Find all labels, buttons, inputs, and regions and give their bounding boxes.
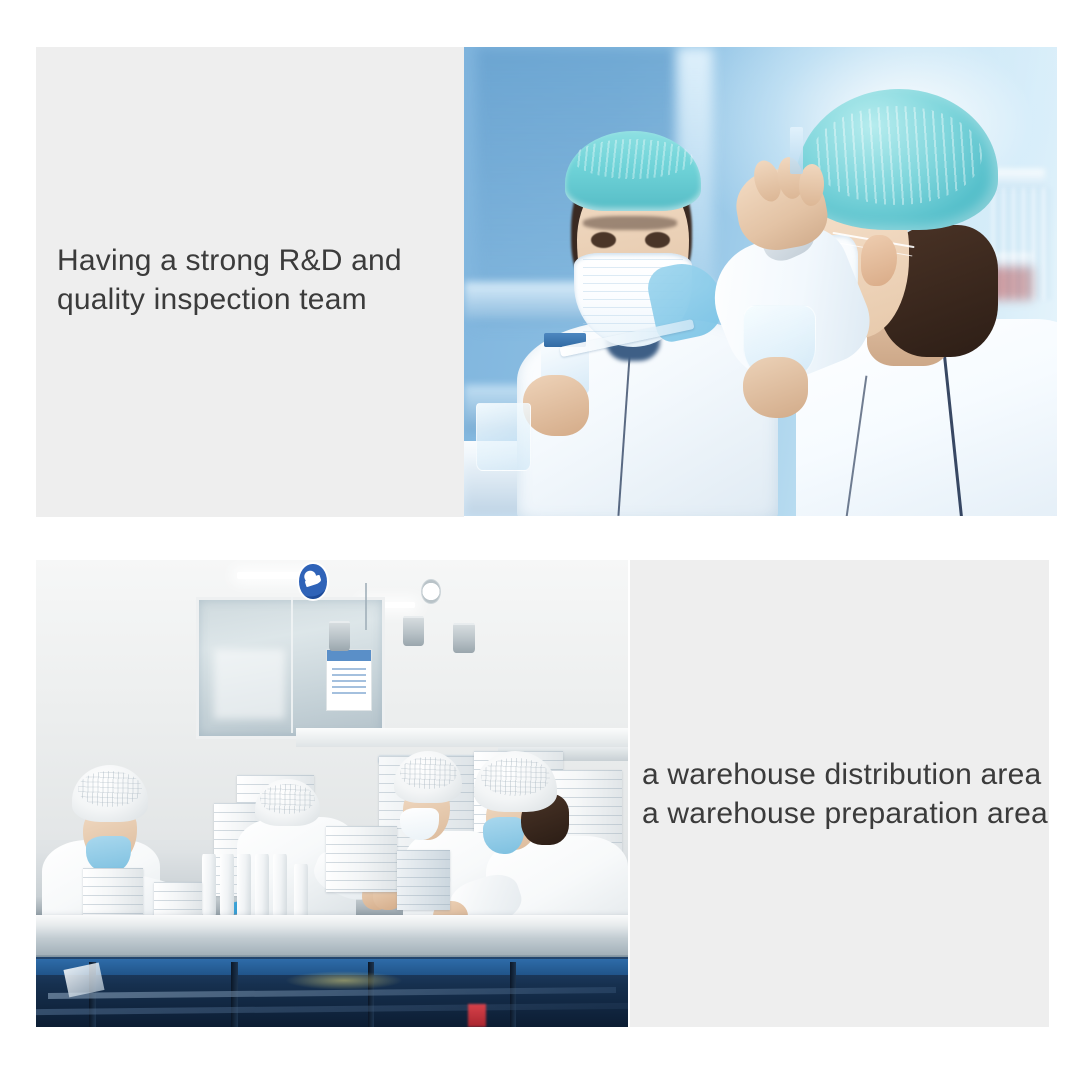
hand-holding-bottle: [523, 375, 588, 436]
product-bottle: [202, 854, 216, 915]
stainless-steel-table: [36, 915, 628, 957]
wall-clock-icon: [421, 579, 441, 604]
carton-stack: [326, 826, 397, 891]
product-bottle: [273, 854, 287, 915]
carton-stack: [397, 850, 450, 911]
red-floor-marking: [468, 1004, 486, 1027]
steel-container: [403, 616, 424, 646]
warehouse-worker-mask: [400, 808, 438, 841]
caption-text-warehouse: a warehouse distribution area a warehous…: [642, 755, 1052, 833]
wall-notice-poster: [326, 649, 372, 712]
floor-reflection: [285, 971, 403, 990]
warehouse-packing-photo: [36, 560, 628, 1027]
round-wall-sign-icon: [299, 564, 326, 599]
technician-left-eye-right: [645, 232, 670, 248]
lab-quality-inspection-photo: [464, 47, 1057, 516]
product-bottle: [220, 854, 234, 915]
window-reflection: [214, 649, 285, 719]
product-bottle: [255, 854, 269, 915]
hanging-cord: [365, 583, 367, 630]
technician-left-brow: [583, 216, 678, 230]
lower-hand: [743, 357, 808, 418]
steel-container: [329, 621, 350, 651]
back-counter: [296, 728, 628, 747]
window-mullion: [291, 597, 293, 732]
feature-block-rd-quality: Having a strong R&D and quality inspecti…: [36, 47, 1057, 516]
caption-pane-rd-quality: Having a strong R&D and quality inspecti…: [36, 47, 464, 517]
glass-beaker: [476, 403, 531, 471]
page-root: Having a strong R&D and quality inspecti…: [0, 0, 1080, 1080]
caption-pane-warehouse: a warehouse distribution area a warehous…: [630, 560, 1049, 1027]
pipette-tip: [790, 127, 803, 174]
caption-text-rd-quality: Having a strong R&D and quality inspecti…: [57, 241, 457, 319]
table-leg: [510, 962, 517, 1027]
steel-container: [453, 623, 474, 653]
product-bottle: [237, 854, 251, 915]
feature-block-warehouse: a warehouse distribution area a warehous…: [36, 560, 1049, 1027]
